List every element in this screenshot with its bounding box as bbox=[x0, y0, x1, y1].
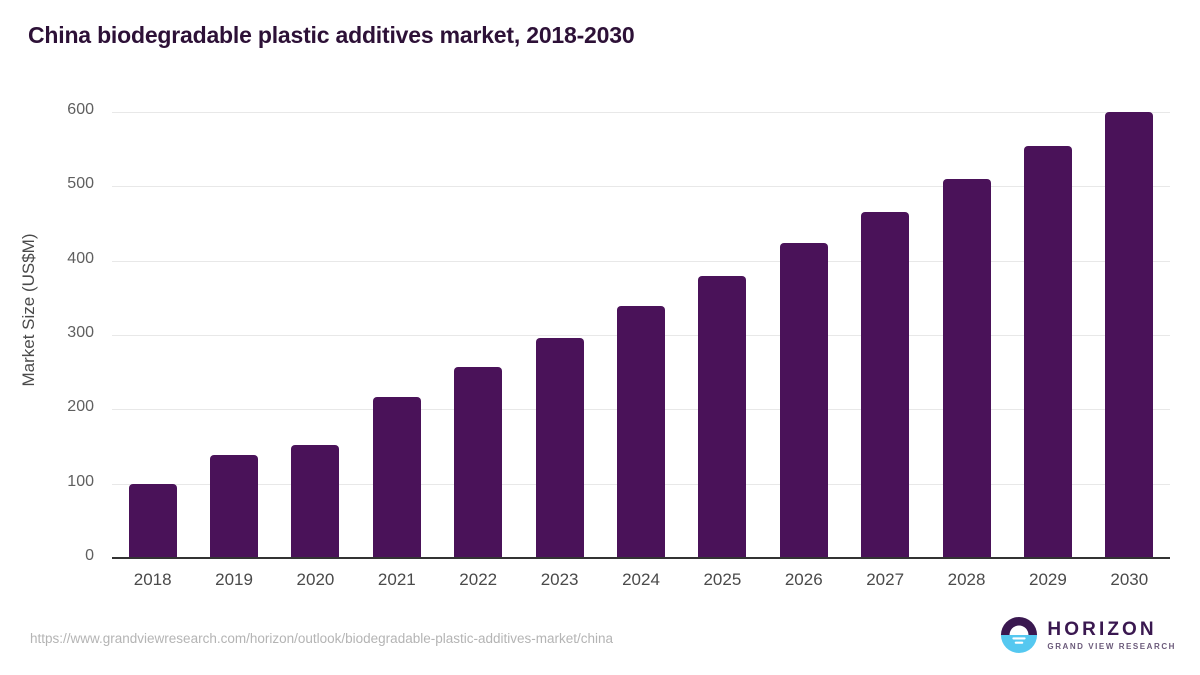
bar[interactable] bbox=[454, 367, 502, 558]
x-tick-label: 2018 bbox=[112, 570, 193, 590]
x-tick-label: 2030 bbox=[1089, 570, 1170, 590]
logo-text: HORIZON GRAND VIEW RESEARCH bbox=[1047, 620, 1176, 651]
bar[interactable] bbox=[536, 338, 584, 558]
gridline bbox=[112, 186, 1170, 187]
x-tick-label: 2025 bbox=[682, 570, 763, 590]
bar[interactable] bbox=[698, 276, 746, 558]
gridline bbox=[112, 112, 1170, 113]
x-tick-label: 2027 bbox=[845, 570, 926, 590]
horizon-sunrise-icon bbox=[1000, 616, 1038, 654]
x-axis-line bbox=[112, 557, 1170, 559]
bar[interactable] bbox=[291, 445, 339, 558]
x-tick-label: 2029 bbox=[1007, 570, 1088, 590]
x-tick-label: 2022 bbox=[438, 570, 519, 590]
bar[interactable] bbox=[210, 455, 258, 558]
page-title: China biodegradable plastic additives ma… bbox=[28, 22, 634, 49]
y-tick-label: 100 bbox=[32, 473, 94, 491]
x-tick-label: 2023 bbox=[519, 570, 600, 590]
bar[interactable] bbox=[373, 397, 421, 558]
logo-name: HORIZON bbox=[1047, 620, 1176, 639]
x-tick-label: 2024 bbox=[601, 570, 682, 590]
x-tick-label: 2020 bbox=[275, 570, 356, 590]
x-tick-label: 2019 bbox=[194, 570, 275, 590]
logo-tagline: GRAND VIEW RESEARCH bbox=[1047, 643, 1176, 651]
chart-card: China biodegradable plastic additives ma… bbox=[0, 0, 1200, 675]
bar[interactable] bbox=[861, 212, 909, 558]
y-tick-label: 0 bbox=[32, 547, 94, 565]
y-tick-label: 400 bbox=[32, 250, 94, 268]
horizon-logo[interactable]: HORIZON GRAND VIEW RESEARCH bbox=[1000, 616, 1176, 654]
bar[interactable] bbox=[617, 306, 665, 558]
plot-area bbox=[112, 112, 1170, 558]
x-tick-label: 2028 bbox=[926, 570, 1007, 590]
bar[interactable] bbox=[1105, 112, 1153, 558]
bar[interactable] bbox=[780, 243, 828, 558]
bar[interactable] bbox=[1024, 146, 1072, 558]
y-tick-label: 500 bbox=[32, 175, 94, 193]
bar[interactable] bbox=[943, 179, 991, 558]
gridline bbox=[112, 261, 1170, 262]
y-tick-label: 300 bbox=[32, 324, 94, 342]
y-tick-label: 600 bbox=[32, 101, 94, 119]
bar[interactable] bbox=[129, 484, 177, 558]
source-url[interactable]: https://www.grandviewresearch.com/horizo… bbox=[30, 631, 613, 646]
x-tick-label: 2026 bbox=[763, 570, 844, 590]
x-tick-label: 2021 bbox=[356, 570, 437, 590]
y-tick-label: 200 bbox=[32, 398, 94, 416]
